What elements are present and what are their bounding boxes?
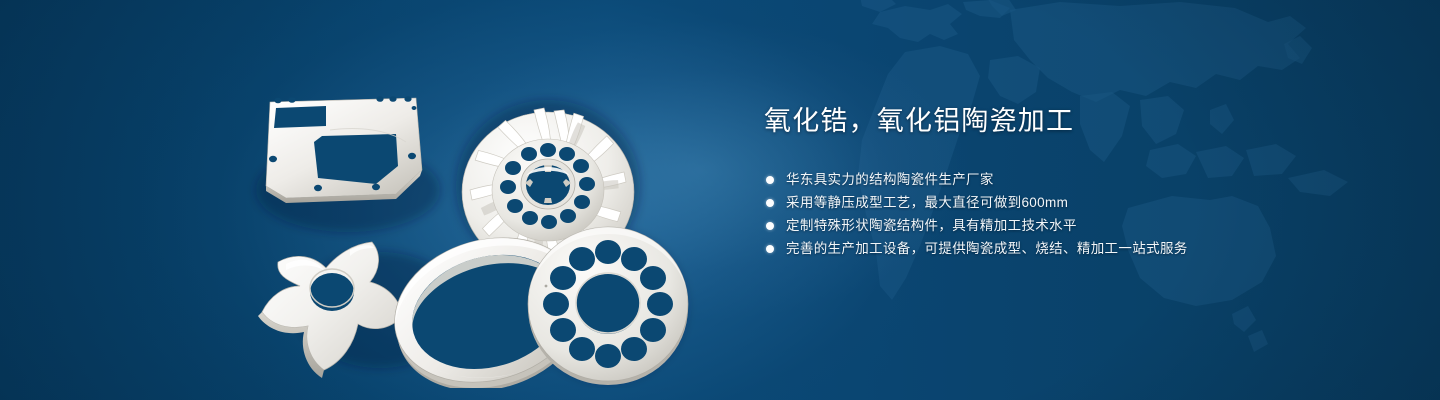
list-item: 华东具实力的结构陶瓷件生产厂家 <box>764 168 1384 191</box>
ceramic-perforated-disc-part <box>528 227 688 385</box>
bullet-dot-icon <box>766 245 774 253</box>
list-item: 完善的生产加工设备，可提供陶瓷成型、烧结、精加工一站式服务 <box>764 237 1384 260</box>
bullet-dot-icon <box>766 199 774 207</box>
feature-text: 采用等静压成型工艺，最大直径可做到600mm <box>786 195 1068 210</box>
bullet-dot-icon <box>766 222 774 230</box>
ceramic-parts-photo-group <box>230 38 700 388</box>
hero-copy: 氧化锆，氧化铝陶瓷加工 华东具实力的结构陶瓷件生产厂家 采用等静压成型工艺，最大… <box>764 104 1384 260</box>
feature-list: 华东具实力的结构陶瓷件生产厂家 采用等静压成型工艺，最大直径可做到600mm 定… <box>764 168 1384 260</box>
list-item: 采用等静压成型工艺，最大直径可做到600mm <box>764 191 1384 214</box>
list-item: 定制特殊形状陶瓷结构件，具有精加工技术水平 <box>764 214 1384 237</box>
bullet-dot-icon <box>766 176 774 184</box>
feature-text: 定制特殊形状陶瓷结构件，具有精加工技术水平 <box>786 218 1077 233</box>
feature-text: 华东具实力的结构陶瓷件生产厂家 <box>786 172 994 187</box>
page-title: 氧化锆，氧化铝陶瓷加工 <box>764 104 1384 138</box>
feature-text: 完善的生产加工设备，可提供陶瓷成型、烧结、精加工一站式服务 <box>786 241 1188 256</box>
ceramic-plate-part <box>266 96 422 203</box>
hero-banner: 氧化锆，氧化铝陶瓷加工 华东具实力的结构陶瓷件生产厂家 采用等静压成型工艺，最大… <box>0 0 1440 400</box>
